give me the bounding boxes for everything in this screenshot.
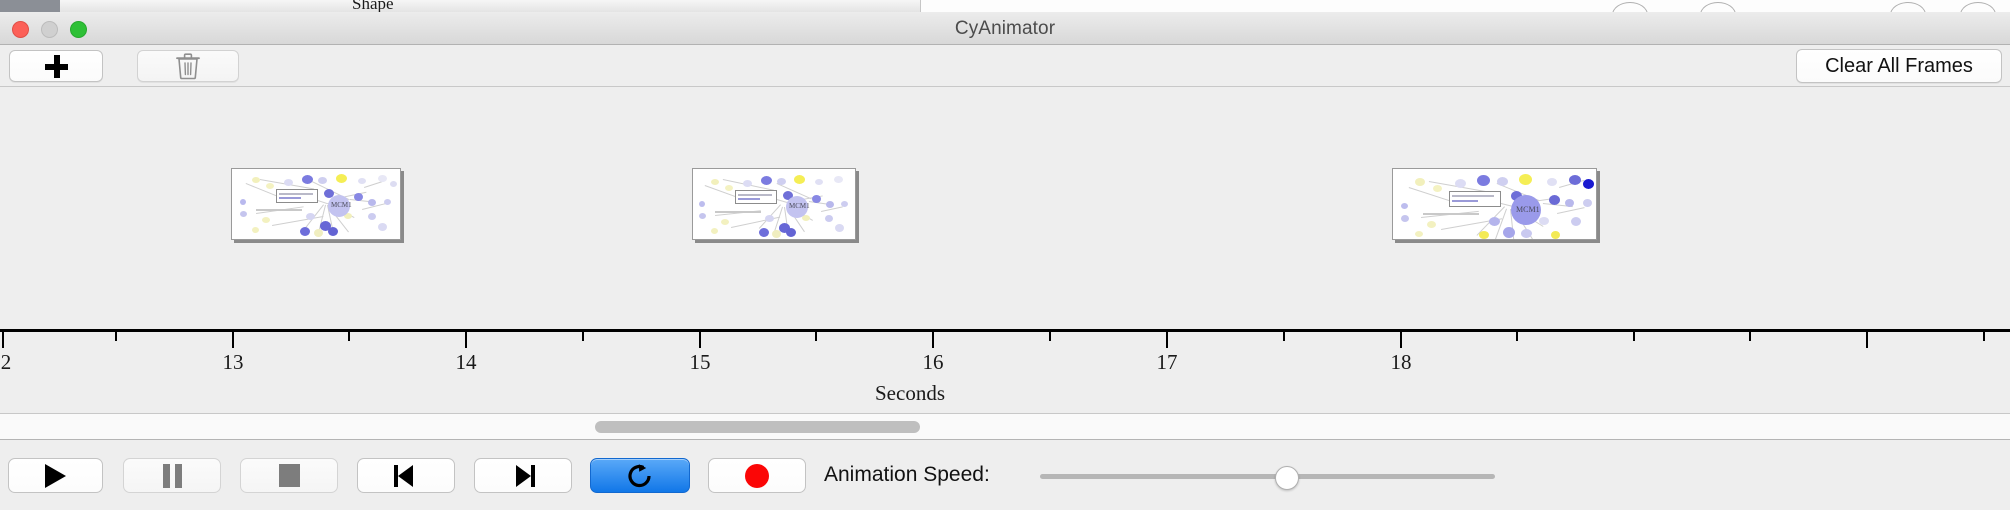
timeline-frame-thumbnail[interactable]: MCM1: [1392, 168, 1597, 240]
skip-forward-icon: [511, 464, 535, 488]
network-hub-label: MCM1: [1516, 205, 1540, 214]
axis-tick-major: [465, 332, 467, 348]
axis-tick-major: [2, 332, 4, 348]
axis-tick-minor: [348, 332, 350, 341]
animation-speed-slider-knob[interactable]: [1275, 466, 1299, 490]
plus-icon: [45, 55, 68, 78]
skip-forward-button[interactable]: [474, 458, 572, 493]
stop-button[interactable]: [240, 458, 338, 493]
page-title: CyAnimator: [0, 18, 2010, 40]
axis-tick-minor: [1283, 332, 1285, 341]
axis-tick-label: 2: [1, 350, 12, 375]
horizontal-scrollbar[interactable]: [0, 414, 2010, 440]
add-frame-button[interactable]: [9, 50, 103, 82]
playback-control-bar: Animation Speed:: [0, 441, 2010, 510]
network-thumbnail: MCM1: [1393, 169, 1596, 239]
timeline-axis: [0, 329, 2010, 332]
record-icon: [745, 464, 769, 488]
cyanimator-window: Shape CyAnimator Clear All Frames: [0, 0, 2010, 510]
axis-tick-label: 14: [456, 350, 477, 375]
trash-icon: [175, 52, 201, 80]
axis-tick-minor: [815, 332, 817, 341]
scrollbar-thumb[interactable]: [595, 421, 920, 433]
axis-tick-label: 13: [223, 350, 244, 375]
axis-tick-minor: [1983, 332, 1985, 341]
pause-button[interactable]: [123, 458, 221, 493]
clear-all-frames-button[interactable]: Clear All Frames: [1796, 49, 2002, 83]
timeline-frame-thumbnail[interactable]: MCM1: [231, 168, 401, 240]
timeline-panel[interactable]: MCM1: [0, 87, 2010, 414]
network-hub-label: MCM1: [331, 201, 352, 209]
stop-icon: [279, 464, 300, 487]
axis-tick-minor: [1516, 332, 1518, 341]
record-button[interactable]: [708, 458, 806, 493]
delete-frame-button[interactable]: [137, 50, 239, 82]
animation-speed-slider[interactable]: [1040, 474, 1495, 479]
loop-button[interactable]: [590, 458, 690, 493]
background-window-segment: [60, 0, 121, 12]
background-window-segment: [120, 0, 181, 12]
network-thumbnail: MCM1: [693, 169, 855, 239]
loop-icon: [626, 462, 654, 490]
background-window-segment: [645, 0, 921, 12]
axis-tick-minor: [115, 332, 117, 341]
axis-tick-major: [232, 332, 234, 348]
axis-tick-major: [1400, 332, 1402, 348]
background-window-segment: [180, 0, 241, 12]
axis-title: Seconds: [875, 381, 945, 406]
axis-tick-label: 17: [1157, 350, 1178, 375]
network-thumbnail: MCM1: [232, 169, 400, 239]
skip-back-icon: [394, 464, 418, 488]
pause-icon: [163, 464, 182, 488]
axis-tick-label: 18: [1391, 350, 1412, 375]
skip-back-button[interactable]: [357, 458, 455, 493]
axis-tick-minor: [1049, 332, 1051, 341]
axis-tick-major: [932, 332, 934, 348]
axis-tick-major: [1866, 332, 1868, 348]
animation-speed-label: Animation Speed:: [824, 463, 990, 487]
timeline-frame-thumbnail[interactable]: MCM1: [692, 168, 856, 240]
play-button[interactable]: [8, 458, 103, 493]
background-window-segment: [240, 0, 351, 12]
axis-tick-major: [1166, 332, 1168, 348]
network-hub-label: MCM1: [789, 202, 810, 210]
background-window-segment: [400, 0, 451, 12]
toolbar: Clear All Frames: [0, 45, 2010, 87]
axis-tick-minor: [1749, 332, 1751, 341]
axis-tick-minor: [582, 332, 584, 341]
background-window-segment: [450, 0, 646, 12]
background-window-dark-segment: [0, 0, 60, 12]
axis-tick-label: 15: [690, 350, 711, 375]
axis-tick-major: [699, 332, 701, 348]
axis-tick-minor: [1633, 332, 1635, 341]
play-icon: [45, 464, 66, 488]
title-bar: CyAnimator: [0, 12, 2010, 45]
axis-tick-label: 16: [923, 350, 944, 375]
